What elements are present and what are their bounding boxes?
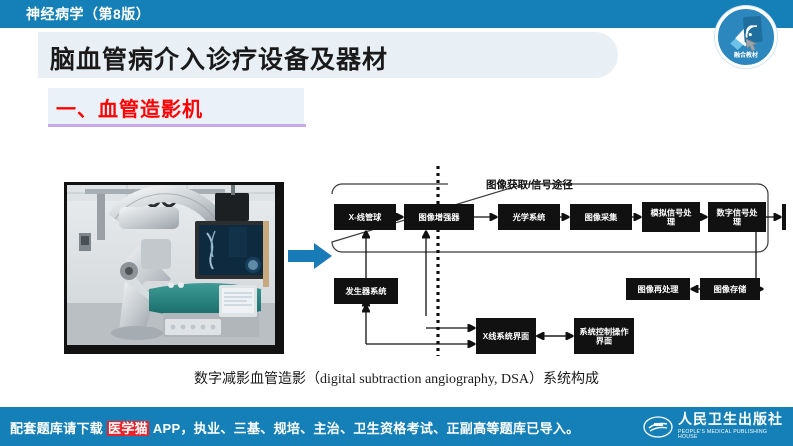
figure-caption: 数字减影血管造影（digital subtraction angiography… — [0, 368, 793, 388]
diagram-box-label-image-intensifier: 图像增强器 — [419, 212, 461, 222]
fusion-textbook-badge: 融合教材 — [715, 6, 777, 68]
diagram-box-label-optical-system: 光学系统 — [512, 212, 547, 222]
diagram-box-label-xray-ui: X线系统界面 — [483, 331, 529, 341]
publisher-name-cn: 人民卫生出版社 — [678, 414, 785, 428]
diagram-box-label-image-storage: 图像存储 — [714, 284, 748, 294]
diagram-box-label-image-capture: 图像采集 — [585, 212, 619, 222]
page-title: 脑血管病介入诊疗设备及器材 — [50, 40, 388, 76]
footer-app-highlight: 医学猫 — [107, 421, 149, 436]
diagram-box-label-image-reprocess: 图像再处理 — [638, 284, 680, 294]
dsa-system-diagram: 图像获取/信号途径 — [326, 166, 786, 356]
footer-promo-text: 配套题库请下载 医学猫 APP，执业、三基、规培、主治、卫生资格考试、正副高等题… — [10, 418, 579, 437]
diagram-group-label: 图像获取/信号途径 — [486, 178, 573, 191]
diagram-box-label-generator-system: 发生器系统 — [345, 286, 388, 296]
section-subtitle: 一、血管造影机 — [56, 93, 203, 122]
pmph-logo-icon — [643, 416, 673, 438]
footer-text-before: 配套题库请下载 — [10, 421, 107, 436]
diagram-box-label-xray-tube: X-线管球 — [349, 212, 383, 222]
book-title: 神经病学（第8版） — [26, 4, 150, 24]
wifi-touch-badge-icon: 融合教材 — [715, 6, 777, 68]
badge-caption: 融合教材 — [734, 51, 758, 59]
angiography-suite-photo — [64, 182, 284, 354]
subtitle-underline — [48, 124, 306, 127]
publisher-logo: 人民卫生出版社 PEOPLE'S MEDICAL PUBLISHING HOUS… — [643, 413, 785, 441]
footer-text-after: APP，执业、三基、规培、主治、卫生资格考试、正副高等题库已导入。 — [149, 421, 580, 436]
diagram-box-imaging — [782, 204, 786, 230]
diagram-boxes: X-线管球图像增强器光学系统图像采集模拟信号处理数字信号处理成像发生器系统图像再… — [334, 202, 786, 356]
footer-bar: 配套题库请下载 医学猫 APP，执业、三基、规培、主治、卫生资格考试、正副高等题… — [0, 407, 793, 446]
publisher-name-en: PEOPLE'S MEDICAL PUBLISHING HOUSE — [678, 430, 785, 440]
